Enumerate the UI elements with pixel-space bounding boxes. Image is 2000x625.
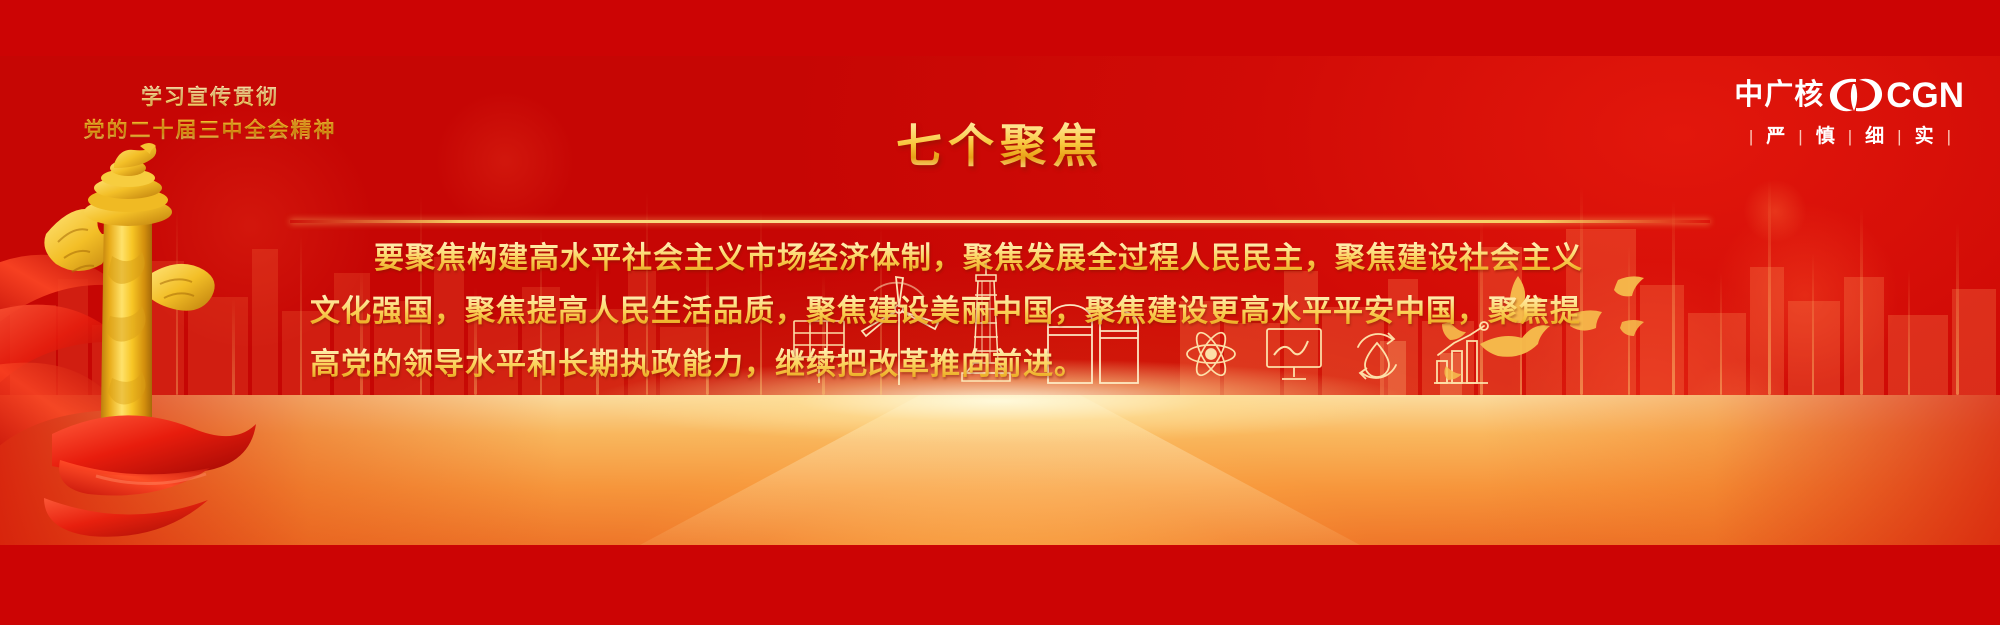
cgn-logo-english: CGN [1886,78,1964,113]
ground-fade-right [1480,395,2000,545]
motto-separator: | [1736,128,1766,145]
motto-separator: | [1785,128,1815,145]
motto-char-2: 慎 [1816,127,1835,146]
huabiao-column-decoration [0,116,300,545]
motto-separator: | [1835,128,1865,145]
motto-char-3: 细 [1865,127,1884,146]
body-line-3: 高党的领导水平和长期执政能力，继续把改革推向前进。 [310,338,1690,391]
motto-separator: | [1934,128,1964,145]
gold-divider-line [290,220,1710,223]
cgn-logo-main: 中广核 CGN [1664,72,1964,118]
body-paragraph: 要聚焦构建高水平社会主义市场经济体制，聚焦发展全过程人民民主，聚焦建设社会主义 … [310,232,1690,391]
motto-separator: | [1884,128,1914,145]
cgn-swirl-mark-icon [1826,75,1884,115]
bottom-border-band [0,545,2000,625]
cgn-logo-chinese: 中广核 [1734,81,1824,110]
motto-char-4: 实 [1915,127,1934,146]
body-line-1: 要聚焦构建高水平社会主义市场经济体制，聚焦发展全过程人民民主，聚焦建设社会主义 [310,232,1690,285]
propaganda-banner: 学习宣传贯彻 党的二十届三中全会精神 七个聚焦 要聚焦构建高水平社会主义市场经济… [0,0,2000,625]
body-line-2: 文化强国，聚焦提高人民生活品质，聚焦建设美丽中国，聚焦建设更高水平平安中国，聚焦… [310,285,1690,338]
cgn-logo-motto: | 严 | 慎 | 细 | 实 | [1664,127,1964,146]
motto-char-1: 严 [1766,127,1785,146]
top-border-band [0,0,2000,56]
cgn-logo[interactable]: 中广核 CGN | 严 | 慎 | 细 | 实 | [1664,72,1964,164]
